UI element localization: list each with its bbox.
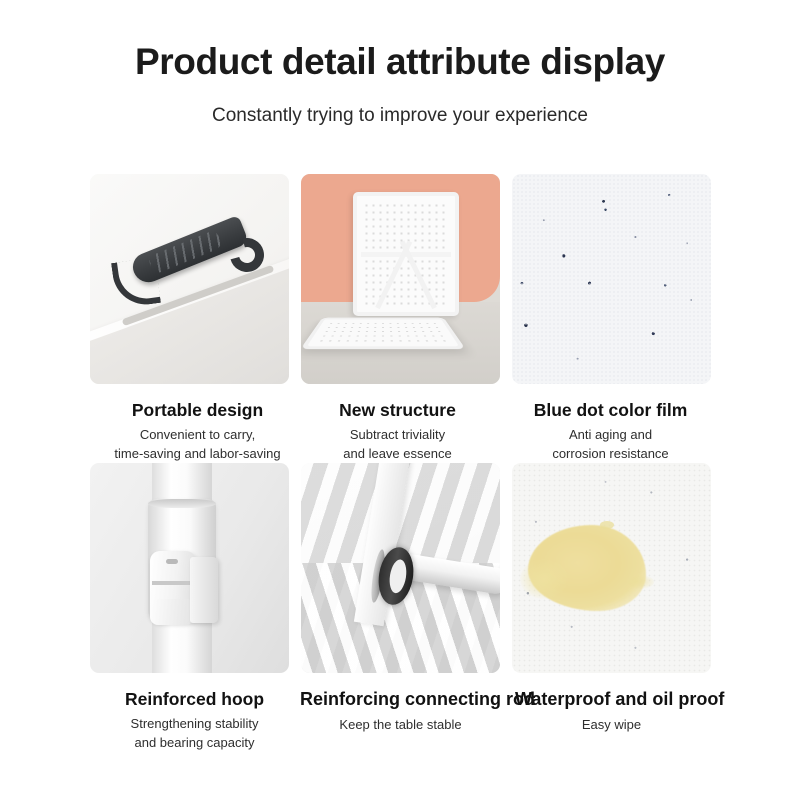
- folded-table-base: [301, 318, 466, 349]
- feature-card-reinforcing-connecting-rod[interactable]: Reinforcing connecting rod Keep the tabl…: [301, 463, 500, 752]
- feature-title: New structure: [298, 400, 497, 420]
- caption-reinforced-hoop: Reinforced hoop Strengthening stability …: [90, 673, 289, 752]
- blue-dot-film-photo: [512, 174, 711, 384]
- feature-card-waterproof-and-oil-proof[interactable]: Waterproof and oil proof Easy wipe: [512, 463, 711, 752]
- carry-handle-photo: [90, 174, 289, 384]
- page-subtitle: Constantly trying to improve your experi…: [0, 105, 800, 127]
- reinforced-hoop-photo: [90, 463, 289, 673]
- hoop-clamp-lower: [150, 599, 194, 625]
- feature-subtitle-line-2: time-saving and labor-saving: [114, 446, 280, 461]
- feature-subtitle: Convenient to carry, time-saving and lab…: [98, 426, 297, 463]
- feature-subtitle: Keep the table stable: [301, 716, 500, 734]
- oil-droplet: [600, 521, 614, 529]
- feature-title: Waterproof and oil proof: [515, 689, 714, 710]
- hoop-sleeve-lip: [148, 499, 216, 508]
- oil-stain-splatter: [628, 575, 654, 589]
- feature-row-1: Portable design Convenient to carry, tim…: [90, 174, 712, 463]
- feature-subtitle-line-1: Subtract triviality: [350, 427, 445, 442]
- connecting-rod-photo: [301, 463, 500, 673]
- folded-table-photo: [301, 174, 500, 384]
- feature-subtitle: Subtract triviality and leave essence: [298, 426, 497, 463]
- caption-blue-dot-color-film: Blue dot color film Anti aging and corro…: [512, 384, 711, 463]
- feature-subtitle-line-1: Strengthening stability: [131, 716, 259, 731]
- feature-title: Reinforced hoop: [95, 689, 294, 709]
- feature-subtitle-line-2: and bearing capacity: [135, 735, 255, 750]
- hoop-lever: [190, 557, 218, 623]
- feature-card-blue-dot-color-film[interactable]: Blue dot color film Anti aging and corro…: [512, 174, 711, 463]
- feature-subtitle-line-2: corrosion resistance: [552, 446, 668, 461]
- feature-subtitle-line-1: Convenient to carry,: [140, 427, 255, 442]
- feature-card-portable-design[interactable]: Portable design Convenient to carry, tim…: [90, 174, 289, 463]
- page-title: Product detail attribute display: [0, 42, 800, 83]
- feature-subtitle: Strengthening stability and bearing capa…: [95, 715, 294, 752]
- feature-subtitle-line-2: and leave essence: [343, 446, 451, 461]
- caption-new-structure: New structure Subtract triviality and le…: [301, 384, 500, 463]
- caption-reinforcing-connecting-rod: Reinforcing connecting rod Keep the tabl…: [301, 673, 500, 734]
- product-detail-page: Product detail attribute display Constan…: [0, 0, 800, 800]
- hoop-clamp-gap: [152, 581, 192, 585]
- feature-card-reinforced-hoop[interactable]: Reinforced hoop Strengthening stability …: [90, 463, 289, 752]
- feature-subtitle-line-1: Anti aging and: [569, 427, 652, 442]
- feature-card-new-structure[interactable]: New structure Subtract triviality and le…: [301, 174, 500, 463]
- folded-tabletop-panel: [353, 192, 459, 316]
- caption-waterproof-and-oil-proof: Waterproof and oil proof Easy wipe: [512, 673, 711, 734]
- feature-subtitle: Anti aging and corrosion resistance: [511, 426, 710, 463]
- oil-stain-photo: [512, 463, 711, 673]
- hoop-clamp-pin: [166, 559, 178, 564]
- feature-grid: Portable design Convenient to carry, tim…: [90, 174, 712, 752]
- panel-brace-right: [400, 240, 437, 309]
- film-texture-grain: [512, 174, 711, 384]
- page-header: Product detail attribute display Constan…: [0, 0, 800, 127]
- feature-row-2: Reinforced hoop Strengthening stability …: [90, 463, 712, 752]
- feature-subtitle: Easy wipe: [512, 716, 711, 734]
- feature-title: Reinforcing connecting rod: [300, 689, 499, 710]
- caption-portable-design: Portable design Convenient to carry, tim…: [90, 384, 289, 463]
- oil-stain-edge: [520, 559, 568, 599]
- feature-title: Portable design: [98, 400, 297, 420]
- feature-title: Blue dot color film: [511, 400, 710, 420]
